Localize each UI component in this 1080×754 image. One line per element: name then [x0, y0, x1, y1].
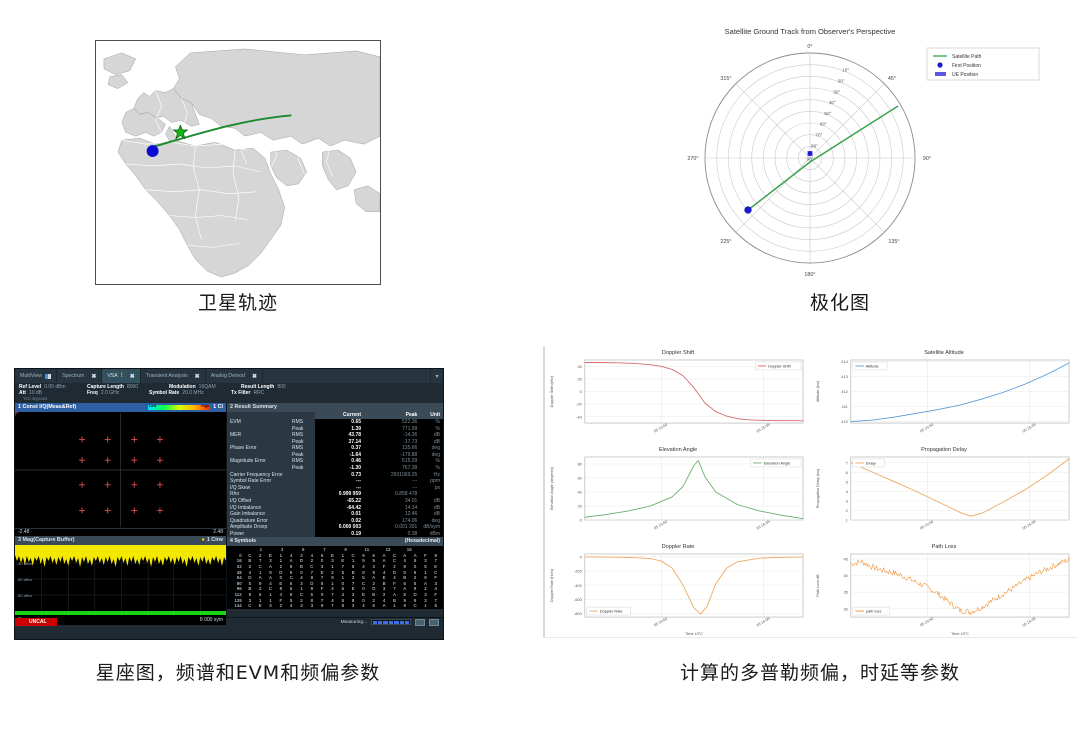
x-axis-label: Time UTC: [951, 631, 969, 636]
y-tick-label: 413: [841, 374, 848, 379]
summary-cell-pk: 14.14: [364, 504, 420, 511]
scale-low: Low: [149, 404, 156, 408]
symbols-row-label: 144: [229, 603, 245, 609]
y-axis-label: Doppler Shift (kHz): [550, 375, 554, 408]
summary-cell-pk: -179.88: [364, 452, 420, 459]
summary-cell-cur: 37.14: [315, 438, 364, 445]
symbols-cell: 3: [265, 603, 275, 609]
summary-cell-sub: RMS: [289, 432, 315, 439]
table-row: Quadrature Error0.02174.06deg: [227, 518, 443, 525]
multiview-icon: [45, 374, 51, 379]
summary-cell-pk: 0.858 478: [364, 491, 420, 498]
summary-cell-name: Magnitude Error: [227, 458, 289, 465]
slide-root: 卫星轨迹 Satellite Ground Track from Observe…: [0, 0, 1080, 754]
chart-svg: Path Loss3035404505 15:5005 15:55Path Lo…: [811, 540, 1077, 637]
table-row: Symbol Rate Error------ppm: [227, 478, 443, 485]
symbols-cell: 1: [420, 603, 430, 609]
svg-text:-40 dBm: -40 dBm: [17, 561, 33, 566]
chart-svg: Propagation Delay123456705 15:5005 15:55…: [811, 443, 1077, 540]
table-row: Magnitude ErrorRMS0.46515.29%: [227, 458, 443, 465]
summary-cell-pk: 135.66: [364, 445, 420, 452]
summary-cell-un: dB/sym: [420, 524, 443, 531]
y-tick-label: 414: [841, 359, 848, 364]
ref-level-label: Ref Level: [19, 384, 41, 390]
svg-text:270°: 270°: [687, 156, 698, 162]
summary-cell-sub: [289, 471, 315, 478]
att-label: Att: [19, 390, 26, 396]
y-tick-label: -40: [576, 414, 583, 419]
y-tick-label: -200: [574, 569, 583, 574]
symbols-cell: 6: [369, 603, 379, 609]
first-position-marker: [745, 207, 752, 214]
tx-filter-label: Tx Filter: [231, 390, 250, 396]
chart-path-loss: Path Loss3035404505 15:5005 15:55Path Lo…: [811, 540, 1077, 637]
symbol-rate-value: 20.0 MHz: [182, 390, 203, 396]
freq-label: Freq: [87, 390, 98, 396]
chart-legend: Doppler Shift: [755, 362, 801, 370]
summary-cell-un: ps: [420, 485, 443, 492]
chart-svg: Elevation Angle02040608005 15:5005 15:55…: [545, 443, 811, 540]
const-badge: 1 Cl: [213, 404, 223, 410]
chart-svg: Doppler Shift-40-200204005 15:5005 15:55…: [545, 346, 811, 443]
y-axis-label: Propagation Delay (ms): [816, 468, 820, 508]
summary-cell-sub: [289, 498, 315, 505]
table-row: Carrier Frequency Error0.732501069.25Hz: [227, 471, 443, 478]
const-window-title: 1 Const I/Q(Meas&Ref) Low High 1 Cl: [15, 403, 226, 412]
summary-cell-name: I/Q Offset: [227, 498, 289, 505]
y-tick-label: -800: [574, 611, 583, 616]
summary-cell-pk: 771.99: [364, 425, 420, 432]
blue-dot-marker: [147, 145, 159, 157]
symbols-cell: 9: [317, 603, 327, 609]
legend-label: path loss: [866, 609, 882, 614]
table-row: Power0.190.38dBm: [227, 531, 443, 538]
polar-chart: Satellite Ground Track from Observer's P…: [575, 18, 1045, 283]
summary-cell-pk: 767.38: [364, 465, 420, 472]
symbols-cell: 5: [431, 603, 441, 609]
summary-cell-name: Rho: [227, 491, 289, 498]
capture-length-label: Capture Length: [87, 384, 124, 390]
vsa-parameter-bar: Ref Level0.00 dBm Capture Length8000 Mod…: [15, 383, 443, 403]
table-row: MERRMS43.78-14.36dB: [227, 432, 443, 439]
symbols-cell: C: [245, 603, 255, 609]
capture-length-value: 8000: [127, 384, 138, 390]
summary-cell-un: %: [420, 425, 443, 432]
warning-icon: !: [121, 373, 123, 379]
legend-label: Delay: [866, 460, 876, 465]
summary-cell-name: I/Q Imbalance: [227, 504, 289, 511]
symbols-cell: A: [379, 603, 389, 609]
summary-cell-sub: Peak: [289, 452, 315, 459]
chart-legend: path loss: [853, 607, 890, 615]
table-row: Peak1.39771.99%: [227, 425, 443, 432]
summary-cell-sub: Peak: [289, 425, 315, 432]
mag-badge: 1 Clrw: [207, 537, 223, 543]
symbols-cell: 8: [400, 603, 410, 609]
svg-text:315°: 315°: [720, 76, 731, 82]
chart-title: Elevation Angle: [659, 447, 697, 453]
chart-svg: Satellite Altitude41041141241341405 15:5…: [811, 346, 1077, 443]
summary-cell-cur: 0.000 003: [315, 524, 364, 531]
scale-high: High: [201, 404, 209, 408]
result-summary-table: Current Peak Unit EVMRMS0.65522.36%Peak1…: [227, 412, 443, 538]
symbols-cell: 2: [276, 603, 286, 609]
y-axis-label: Doppler Rate (Hz/s): [550, 568, 554, 602]
vsa-caption: 星座图，频谱和EVM和频偏参数: [0, 658, 476, 685]
table-row: I/Q Offset-65.2234.01dB: [227, 498, 443, 505]
svg-text:30°: 30°: [833, 89, 840, 94]
chart-satellite-altitude: Satellite Altitude41041141241341405 15:5…: [811, 346, 1077, 443]
constellation-axis: -2.48 2.48: [15, 528, 226, 536]
chart-doppler-shift: Doppler Shift-40-200204005 15:5005 15:55…: [545, 346, 811, 443]
close-icon[interactable]: ✖: [130, 373, 135, 380]
summary-cell-cur: ---: [315, 478, 364, 485]
summary-cell-name: EVM: [227, 419, 289, 426]
summary-cell-pk: 2501069.25: [364, 471, 420, 478]
svg-text:50°: 50°: [824, 111, 831, 116]
summary-cell-sub: [289, 531, 315, 538]
status-icon-1[interactable]: [415, 619, 425, 626]
table-row: EVMRMS0.65522.36%: [227, 419, 443, 426]
legend-label: Doppler Rate: [600, 609, 623, 614]
const-title-text: 1 Const I/Q(Meas&Ref): [18, 404, 76, 410]
y-tick-label: -600: [574, 597, 583, 602]
chart-title: Doppler Rate: [662, 544, 695, 550]
polar-svg: Satellite Ground Track from Observer's P…: [575, 18, 1045, 283]
chart-title: Satellite Altitude: [924, 350, 964, 356]
y-axis-label: Elevation Angle (degrees): [550, 466, 554, 510]
svg-text:60°: 60°: [820, 122, 827, 127]
const-axis-right: 2.48: [213, 529, 223, 536]
chart-propagation-delay: Propagation Delay123456705 15:5005 15:55…: [811, 443, 1077, 540]
vsa-instrument-panel: MultiView Spectrum ✖ VSA ! ✖ Transient A…: [0, 336, 540, 754]
symbols-rows: 0C2E14346E1C96ACAAF816B731AD203E195AC493…: [229, 553, 441, 609]
tab-empty-area: [263, 369, 431, 383]
tab-vsa[interactable]: VSA ! ✖: [102, 369, 140, 383]
charts-caption: 计算的多普勒频偏，时延等参数: [650, 658, 990, 685]
summary-cell-cur: 1.39: [315, 425, 364, 432]
summary-cell-pk: 0.001 201: [364, 524, 420, 531]
constellation-diagram: [15, 412, 226, 528]
map-svg: [96, 41, 380, 284]
chevron-down-icon[interactable]: ▾: [431, 369, 443, 383]
modulation-value: 16QAM: [199, 384, 216, 390]
summary-cell-un: ppm: [420, 478, 443, 485]
summary-cell-sub: RMS: [289, 458, 315, 465]
summary-cell-pk: 515.29: [364, 458, 420, 465]
capture-buffer-trace: -40 dBm -60 dBm -80 dBm: [15, 545, 226, 617]
mag-title-text: 3 Mag(Capture Buffer): [18, 537, 75, 543]
charts-grid: Doppler Shift-40-200204005 15:5005 15:55…: [543, 346, 1077, 638]
summary-cell-un: dB: [420, 504, 443, 511]
tab-label: Transient Analysis: [146, 373, 188, 379]
vsa-left-column: 1 Const I/Q(Meas&Ref) Low High 1 Cl: [15, 403, 227, 617]
legend-label: Elevation Angle: [764, 460, 791, 465]
symbols-format-text: (Hexadecimal): [405, 538, 440, 545]
summary-col-sub: [289, 412, 315, 419]
chart-legend: Elevation Angle: [751, 459, 801, 467]
close-icon[interactable]: ✖: [91, 373, 96, 380]
satellite-track-panel: 卫星轨迹: [0, 0, 540, 330]
summary-cell-cur: 0.37: [315, 445, 364, 452]
summary-cell-cur: -1.64: [315, 452, 364, 459]
summary-cell-un: deg: [420, 452, 443, 459]
summary-cell-cur: 0.73: [315, 471, 364, 478]
mag-svg: -40 dBm -60 dBm -80 dBm: [15, 545, 226, 617]
summary-cell-name: Gain Imbalance: [227, 511, 289, 518]
summary-cell-un: dB: [420, 498, 443, 505]
symbols-cell: 1: [389, 603, 399, 609]
svg-text:UE Position: UE Position: [952, 72, 978, 78]
summary-col-name: [227, 412, 289, 419]
att-value: 10 dB: [29, 390, 42, 396]
x-axis-label: Time UTC: [685, 631, 703, 636]
summary-cell-pk: 522.36: [364, 419, 420, 426]
svg-text:-60 dBm: -60 dBm: [17, 577, 33, 582]
svg-text:90°: 90°: [923, 156, 931, 162]
summary-cell-un: deg: [420, 445, 443, 452]
y-tick-label: 7: [846, 460, 848, 465]
y-axis-label: Path Loss dB: [816, 574, 820, 597]
summary-cell-pk: ---: [364, 478, 420, 485]
summary-col-peak: Peak: [364, 412, 420, 419]
summary-cell-name: Power: [227, 531, 289, 538]
summary-cell-sub: RMS: [289, 445, 315, 452]
tx-filter-value: RRC: [253, 390, 264, 396]
modulation-label: Modulation: [169, 384, 196, 390]
vsa-windows: 1 Const I/Q(Meas&Ref) Low High 1 Cl: [15, 403, 443, 617]
y-tick-label: -20: [576, 402, 583, 407]
summary-cell-pk: -14.36: [364, 432, 420, 439]
svg-text:20°: 20°: [838, 79, 845, 84]
summary-cell-un: [420, 491, 443, 498]
summary-cell-sub: [289, 524, 315, 531]
tab-label: VSA: [107, 373, 117, 379]
summary-cell-name: I/Q Skew: [227, 485, 289, 492]
summary-body: EVMRMS0.65522.36%Peak1.39771.99%MERRMS43…: [227, 419, 443, 538]
chart-legend: Doppler Rate: [587, 607, 630, 615]
table-row: I/Q Skew------ps: [227, 485, 443, 492]
status-icon-2[interactable]: [429, 619, 439, 626]
summary-cell-un: dB: [420, 432, 443, 439]
svg-text:80°: 80°: [811, 143, 818, 148]
uncal-badge: UNCAL: [15, 618, 57, 626]
summary-cell-un: dBm: [420, 531, 443, 538]
svg-text:135°: 135°: [888, 239, 899, 245]
table-row: Rho0.999 9590.858 478: [227, 491, 443, 498]
world-map: [95, 40, 381, 285]
svg-text:45°: 45°: [888, 76, 896, 82]
svg-text:0°: 0°: [807, 44, 812, 50]
mag-axis-right: 8 000 sym: [200, 617, 223, 625]
map-caption: 卫星轨迹: [0, 288, 476, 315]
summary-cell-un: Hz: [420, 471, 443, 478]
tab-multiview[interactable]: MultiView: [15, 369, 57, 383]
summary-header-row: Current Peak Unit: [227, 412, 443, 419]
polar-legend: Satellite Path First Position UE Positio…: [927, 48, 1039, 80]
summary-cell-pk: 174.06: [364, 518, 420, 525]
summary-cell-un: deg: [420, 518, 443, 525]
const-axis-left: -2.48: [18, 529, 29, 536]
result-length-label: Result Length: [241, 384, 274, 390]
chart-title: Propagation Delay: [921, 447, 967, 453]
close-icon[interactable]: ✖: [195, 373, 200, 380]
symbols-cell: 3: [348, 603, 358, 609]
y-tick-label: 412: [841, 389, 848, 394]
symbol-rate-label: Symbol Rate: [149, 390, 179, 396]
y-tick-label: 2: [846, 508, 848, 513]
chart-svg: Doppler Rate0-200-400-600-80005 15:5005 …: [545, 540, 811, 637]
summary-cell-sub: [289, 511, 315, 518]
svg-text:70°: 70°: [815, 133, 822, 138]
summary-title-text: 2 Result Summary: [230, 404, 277, 410]
tab-spectrum[interactable]: Spectrum ✖: [57, 369, 102, 383]
table-row: I/Q Imbalance-64.4214.14dB: [227, 504, 443, 511]
summary-cell-cur: 0.19: [315, 531, 364, 538]
vsa-tab-bar: MultiView Spectrum ✖ VSA ! ✖ Transient A…: [15, 369, 443, 383]
svg-text:40°: 40°: [829, 100, 836, 105]
summary-cell-name: [227, 452, 289, 459]
summary-cell-cur: 0.01: [315, 511, 364, 518]
symbols-cell: E: [255, 603, 265, 609]
symbols-table: 13579111315 0C2E14346E1C96ACAAF816B731AD…: [227, 546, 443, 609]
symbols-cell: 7: [327, 603, 337, 609]
chart-doppler-rate: Doppler Rate0-200-400-600-80005 15:5005 …: [545, 540, 811, 637]
svg-text:Satellite Path: Satellite Path: [952, 54, 982, 60]
svg-text:225°: 225°: [720, 239, 731, 245]
chart-elevation-angle: Elevation Angle02040608005 15:5005 15:55…: [545, 443, 811, 540]
symbols-title-text: 4 Symbols: [230, 538, 256, 545]
freq-value: 2.0 GHz: [101, 390, 119, 396]
svg-text:-80 dBm: -80 dBm: [17, 593, 33, 598]
svg-text:10°: 10°: [842, 68, 849, 73]
summary-cell-cur: 0.65: [315, 419, 364, 426]
symbols-row: 144CE32433978346A18C15: [229, 603, 441, 609]
summary-cell-cur: 43.78: [315, 432, 364, 439]
chart-title: Doppler Shift: [662, 350, 695, 356]
tab-label: MultiView: [20, 373, 42, 379]
summary-cell-name: Symbol Rate Error: [227, 478, 289, 485]
summary-cell-cur: 0.46: [315, 458, 364, 465]
table-row: Peak-1.30767.38%: [227, 465, 443, 472]
summary-cell-pk: 12.46: [364, 511, 420, 518]
y-tick-label: 410: [841, 419, 848, 424]
summary-col-current: Current: [315, 412, 364, 419]
summary-cell-un: %: [420, 465, 443, 472]
summary-cell-sub: [289, 518, 315, 525]
summary-cell-cur: -65.22: [315, 498, 364, 505]
table-row: Peak37.14-17.73dB: [227, 438, 443, 445]
summary-cell-un: %: [420, 419, 443, 426]
summary-cell-un: dB: [420, 438, 443, 445]
summary-cell-un: dB: [420, 511, 443, 518]
tab-label: Spectrum: [62, 373, 84, 379]
summary-cell-name: MER: [227, 432, 289, 439]
symbols-cell: C: [410, 603, 420, 609]
summary-cell-name: [227, 465, 289, 472]
summary-cell-name: Carrier Frequency Error: [227, 471, 289, 478]
tab-analog-demod[interactable]: Analog Demod ✖: [206, 369, 263, 383]
summary-cell-name: Amplitude Droop: [227, 524, 289, 531]
chart-legend: Altitude: [853, 362, 887, 370]
summary-cell-sub: Peak: [289, 438, 315, 445]
summary-cell-sub: [289, 478, 315, 485]
table-row: Phase ErrorRMS0.37135.66deg: [227, 445, 443, 452]
table-row: Gain Imbalance0.0112.46dB: [227, 511, 443, 518]
ref-level-value: 0.00 dBm: [44, 384, 65, 390]
symbols-cell: 8: [338, 603, 348, 609]
symbols-window-title: 4 Symbols (Hexadecimal): [227, 537, 443, 546]
summary-col-unit: Unit: [420, 412, 443, 419]
progress-bar: [371, 619, 411, 625]
summary-window-title: 2 Result Summary: [227, 403, 443, 412]
summary-cell-cur: -64.42: [315, 504, 364, 511]
y-tick-label: 411: [842, 404, 849, 409]
svg-text:180°: 180°: [804, 272, 815, 278]
summary-cell-cur: 0.999 959: [315, 491, 364, 498]
summary-cell-pk: 0.38: [364, 531, 420, 538]
y-axis-label: Altitude (km): [816, 380, 820, 402]
summary-cell-sub: Peak: [289, 465, 315, 472]
tab-transient-analysis[interactable]: Transient Analysis ✖: [141, 369, 206, 383]
constellation-svg: [15, 412, 226, 528]
mag-window-title: 3 Mag(Capture Buffer) ● 1 Clrw: [15, 536, 226, 545]
vsa-right-column: 2 Result Summary Current Peak Unit: [227, 403, 443, 617]
symbols-cell: 3: [307, 603, 317, 609]
summary-cell-sub: [289, 504, 315, 511]
chart-title: Path Loss: [932, 544, 957, 550]
vsa-screenshot: MultiView Spectrum ✖ VSA ! ✖ Transient A…: [14, 368, 444, 640]
svg-text:First Position: First Position: [952, 63, 981, 69]
color-scale-bar: Low High: [148, 405, 210, 410]
summary-cell-cur: 0.02: [315, 518, 364, 525]
summary-cell-cur: -1.30: [315, 465, 364, 472]
summary-cell-sub: [289, 491, 315, 498]
summary-cell-sub: RMS: [289, 419, 315, 426]
legend-label: Altitude: [866, 363, 879, 368]
y-tick-label: -400: [574, 583, 583, 588]
table-row: Peak-1.64-179.88deg: [227, 452, 443, 459]
summary-cell-name: Phase Error: [227, 445, 289, 452]
summary-cell-pk: -17.73: [364, 438, 420, 445]
summary-cell-sub: [289, 485, 315, 492]
polar-title: Satellite Ground Track from Observer's P…: [725, 27, 896, 36]
symbols-cell: 4: [286, 603, 296, 609]
polar-plot-panel: Satellite Ground Track from Observer's P…: [540, 0, 1080, 330]
summary-cell-un: %: [420, 458, 443, 465]
table-row: Amplitude Droop0.000 0030.001 201dB/sym: [227, 524, 443, 531]
tab-label: Analog Demod: [211, 373, 245, 379]
legend-label: Doppler Shift: [768, 363, 791, 368]
symbols-cell: 3: [296, 603, 306, 609]
measuring-status: Measuring...: [341, 620, 367, 625]
summary-cell-pk: 34.01: [364, 498, 420, 505]
summary-cell-cur: ---: [315, 485, 364, 492]
summary-cell-name: Quadrature Error: [227, 518, 289, 525]
symbols-cell: 4: [358, 603, 368, 609]
chart-legend: Delay: [853, 459, 885, 467]
close-icon[interactable]: ✖: [252, 373, 257, 380]
link-budget-charts-panel: Doppler Shift-40-200204005 15:5005 15:55…: [540, 336, 1080, 754]
summary-cell-name: [227, 438, 289, 445]
polar-caption: 极化图: [720, 288, 960, 315]
summary-cell-name: [227, 425, 289, 432]
summary-cell-pk: ---: [364, 485, 420, 492]
result-length-value: 800: [277, 384, 285, 390]
